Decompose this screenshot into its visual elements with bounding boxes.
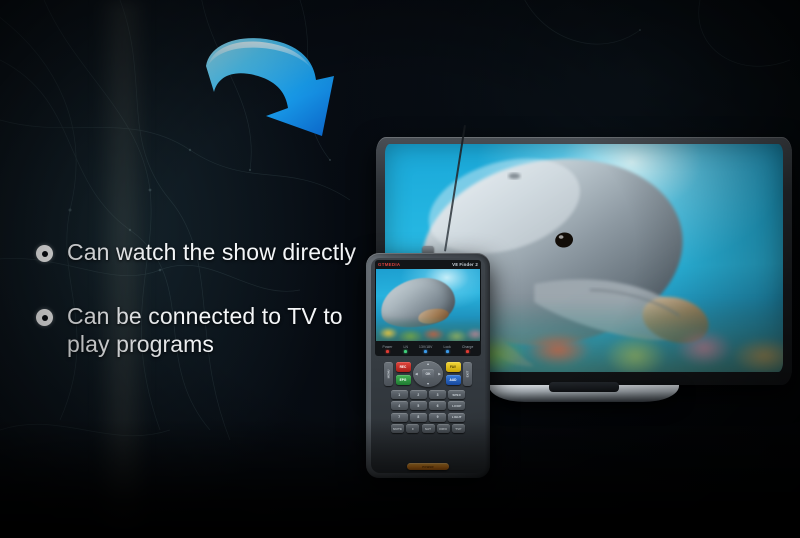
key-mute[interactable]: MUTE (391, 424, 404, 433)
power-button[interactable]: POWER (407, 463, 449, 470)
key-2[interactable]: 2 (410, 390, 427, 399)
key-5[interactable]: 5 (410, 401, 427, 410)
led-label: Power (383, 345, 393, 349)
ring-bullet-icon (36, 309, 53, 326)
power-button-area[interactable]: POWER (375, 463, 481, 470)
handheld-satellite-finder[interactable]: GTMEDIA V8 Finder 2 Power LN (366, 253, 490, 478)
led-dot (466, 350, 469, 353)
keypad[interactable]: MENU REC EPG ▲ (375, 360, 481, 473)
exit-button-label: EXIT (465, 370, 469, 377)
key-3[interactable]: 3 (429, 390, 446, 399)
key-1[interactable]: 1 (391, 390, 408, 399)
menu-button-label: MENU (387, 369, 391, 378)
bullet-text: Can be connected to TV to play programs (67, 302, 366, 358)
feature-bullet-list: Can watch the show directly Can be conne… (36, 238, 366, 394)
led-ln: LN (404, 345, 408, 353)
model-label: V8 Finder 2 (452, 262, 478, 267)
keypad-row-4[interactable]: MUTE 0 SAT INFO TVP (375, 424, 481, 433)
dpad-right-icon[interactable]: ▶ (438, 372, 441, 376)
key-loop[interactable]: LOOP (448, 401, 465, 410)
aud-button-label: AUD (450, 378, 457, 382)
aud-button[interactable]: AUD (446, 375, 461, 385)
fav-button-label: FAV (450, 365, 456, 369)
curved-blue-arrow (196, 24, 372, 150)
meter-header: GTMEDIA V8 Finder 2 (375, 260, 481, 269)
key-9[interactable]: 9 (429, 413, 446, 422)
epg-button[interactable]: EPG (396, 375, 411, 385)
brand-label: GTMEDIA (378, 262, 400, 267)
tv-stand (489, 385, 679, 402)
epg-button-label: EPG (400, 378, 407, 382)
keypad-row-1[interactable]: 1 2 3 SPEC (375, 390, 481, 399)
dpad[interactable]: ▲ ▼ ◀ ▶ OK (413, 361, 443, 387)
keypad-row-2[interactable]: 4 5 6 LOOP (375, 401, 481, 410)
led-dot (424, 350, 427, 353)
control-cluster[interactable]: MENU REC EPG ▲ (375, 360, 481, 387)
key-spec[interactable]: SPEC (448, 390, 465, 399)
led-dot (404, 350, 407, 353)
led-dot (386, 350, 389, 353)
fav-button[interactable]: FAV (446, 362, 461, 372)
rec-button[interactable]: REC (396, 362, 411, 372)
key-0[interactable]: 0 (406, 424, 419, 433)
bullet-text: Can watch the show directly (67, 238, 356, 266)
led-lock: Lock (444, 345, 451, 353)
meter-face: GTMEDIA V8 Finder 2 Power LN (371, 258, 485, 473)
key-6[interactable]: 6 (429, 401, 446, 410)
led-label: LN (404, 345, 408, 349)
led-voltage: 13V/18V (419, 345, 432, 353)
led-power: Power (383, 345, 393, 353)
dpad-down-icon[interactable]: ▼ (426, 382, 430, 386)
meter-screen-reef (375, 317, 481, 341)
list-item: Can watch the show directly (36, 238, 366, 266)
meter-screen (375, 269, 481, 341)
key-light[interactable]: LIGHT (448, 413, 465, 422)
led-label: 13V/18V (419, 345, 432, 349)
led-label: Charge (462, 345, 473, 349)
key-4[interactable]: 4 (391, 401, 408, 410)
key-7[interactable]: 7 (391, 413, 408, 422)
key-8[interactable]: 8 (410, 413, 427, 422)
promo-banner: Can watch the show directly Can be conne… (0, 0, 800, 538)
led-indicator-row: Power LN 13V/18V Lock (375, 341, 481, 356)
color-keys-right[interactable]: FAV AUD (446, 362, 461, 384)
led-dot (446, 350, 449, 353)
ring-bullet-icon (36, 245, 53, 262)
dpad-up-icon[interactable]: ▲ (426, 362, 430, 366)
color-keys-left[interactable]: REC EPG (396, 362, 411, 384)
exit-button[interactable]: EXIT (463, 362, 472, 386)
key-sat[interactable]: SAT (422, 424, 435, 433)
meter-body: GTMEDIA V8 Finder 2 Power LN (366, 253, 490, 478)
list-item: Can be connected to TV to play programs (36, 302, 366, 358)
key-info[interactable]: INFO (437, 424, 450, 433)
key-tvp[interactable]: TVP (452, 424, 465, 433)
dpad-left-icon[interactable]: ◀ (415, 372, 418, 376)
led-charge: Charge (462, 345, 473, 353)
menu-button[interactable]: MENU (384, 362, 393, 386)
rec-button-label: REC (400, 365, 407, 369)
led-label: Lock (444, 345, 451, 349)
ok-button[interactable]: OK (422, 369, 434, 379)
keypad-row-3[interactable]: 7 8 9 LIGHT (375, 413, 481, 422)
